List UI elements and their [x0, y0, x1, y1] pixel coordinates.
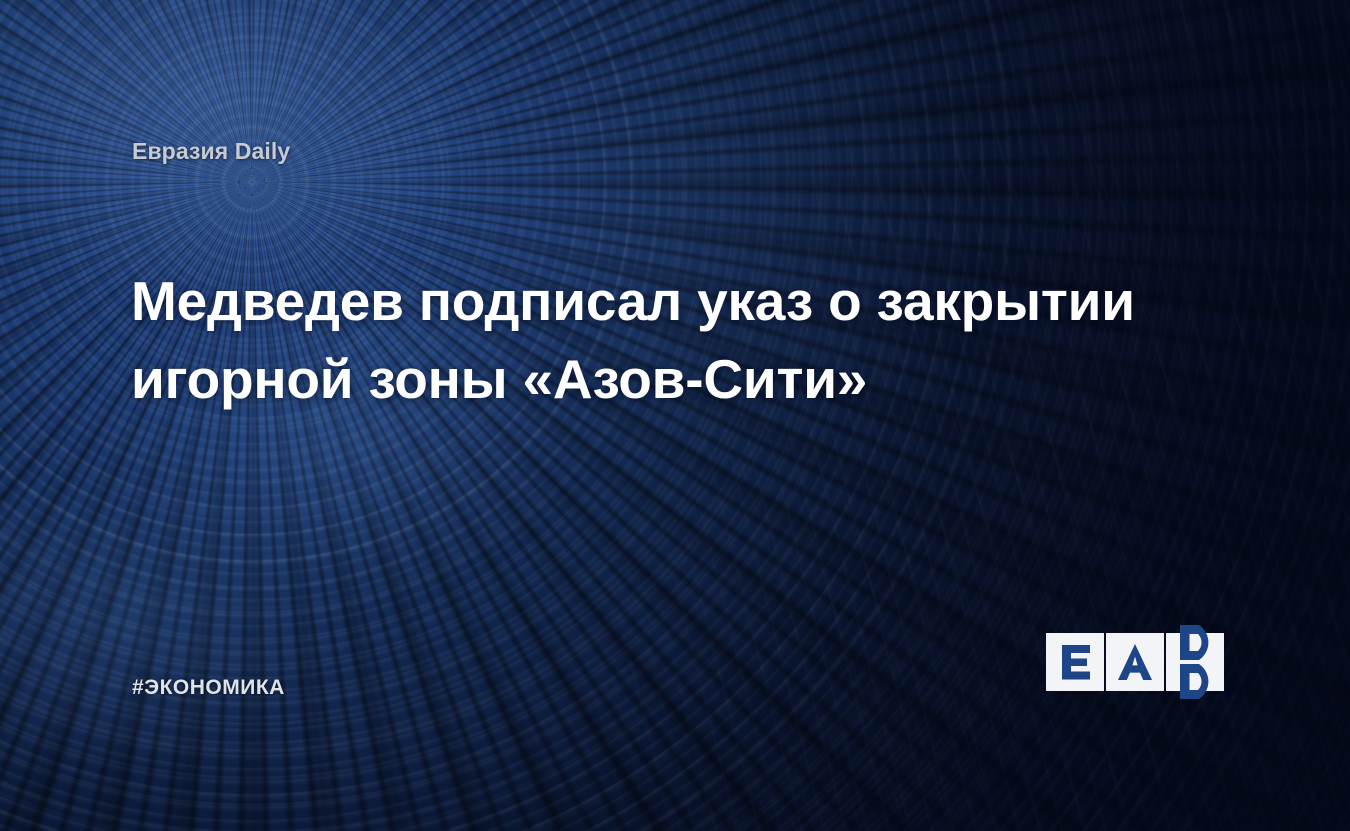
- logo-letter-e-icon: [1046, 633, 1104, 691]
- logo-tile-d: [1166, 633, 1224, 691]
- ead-logo: [1046, 633, 1222, 691]
- logo-tile-e: [1046, 633, 1104, 691]
- category-hashtag: #ЭКОНОМИКА: [132, 676, 285, 700]
- logo-letter-d-icon: [1166, 633, 1224, 691]
- logo-letter-a-icon: [1106, 633, 1164, 691]
- logo-tile-a: [1106, 633, 1164, 691]
- news-share-card: Евразия Daily Медведев подписал указ о з…: [0, 0, 1350, 831]
- publication-brand: Евразия Daily: [132, 138, 290, 165]
- article-headline: Медведев подписал указ о закрытии игорно…: [131, 262, 1171, 418]
